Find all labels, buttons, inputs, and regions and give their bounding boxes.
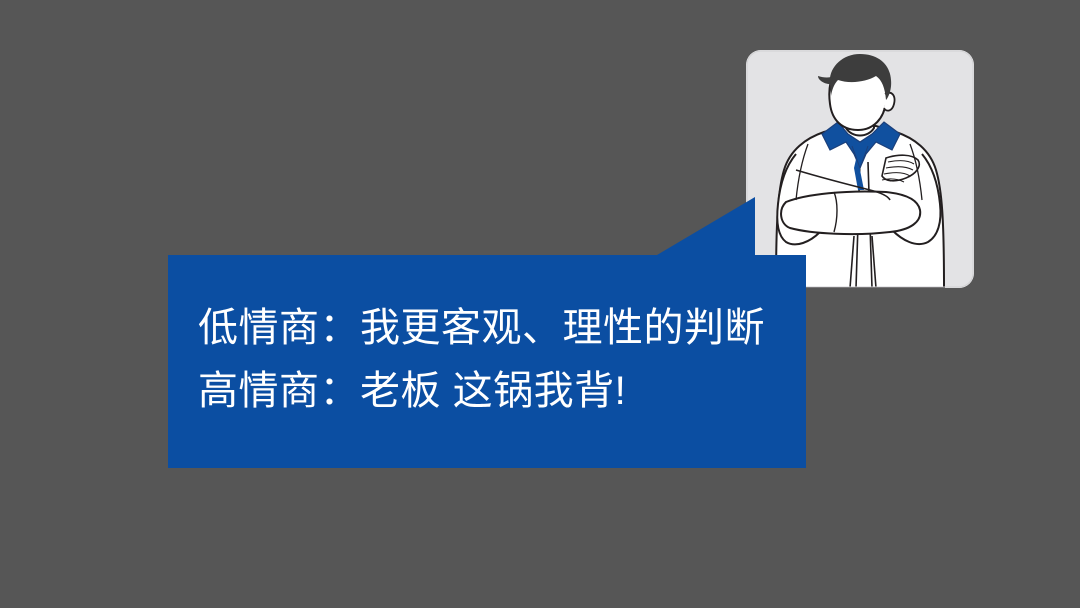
- crossed-forearm-front: [781, 191, 920, 234]
- speech-line-2: 高情商：老板 这锅我背!: [198, 360, 798, 423]
- speech-line-1: 低情商：我更客观、理性的判断: [198, 297, 798, 360]
- slide-canvas: 低情商：我更客观、理性的判断 高情商：老板 这锅我背!: [0, 0, 1080, 608]
- avatar-illustration: [746, 50, 974, 288]
- speech-bubble-text: 低情商：我更客观、理性的判断 高情商：老板 这锅我背!: [198, 297, 798, 423]
- avatar-card: [746, 50, 974, 288]
